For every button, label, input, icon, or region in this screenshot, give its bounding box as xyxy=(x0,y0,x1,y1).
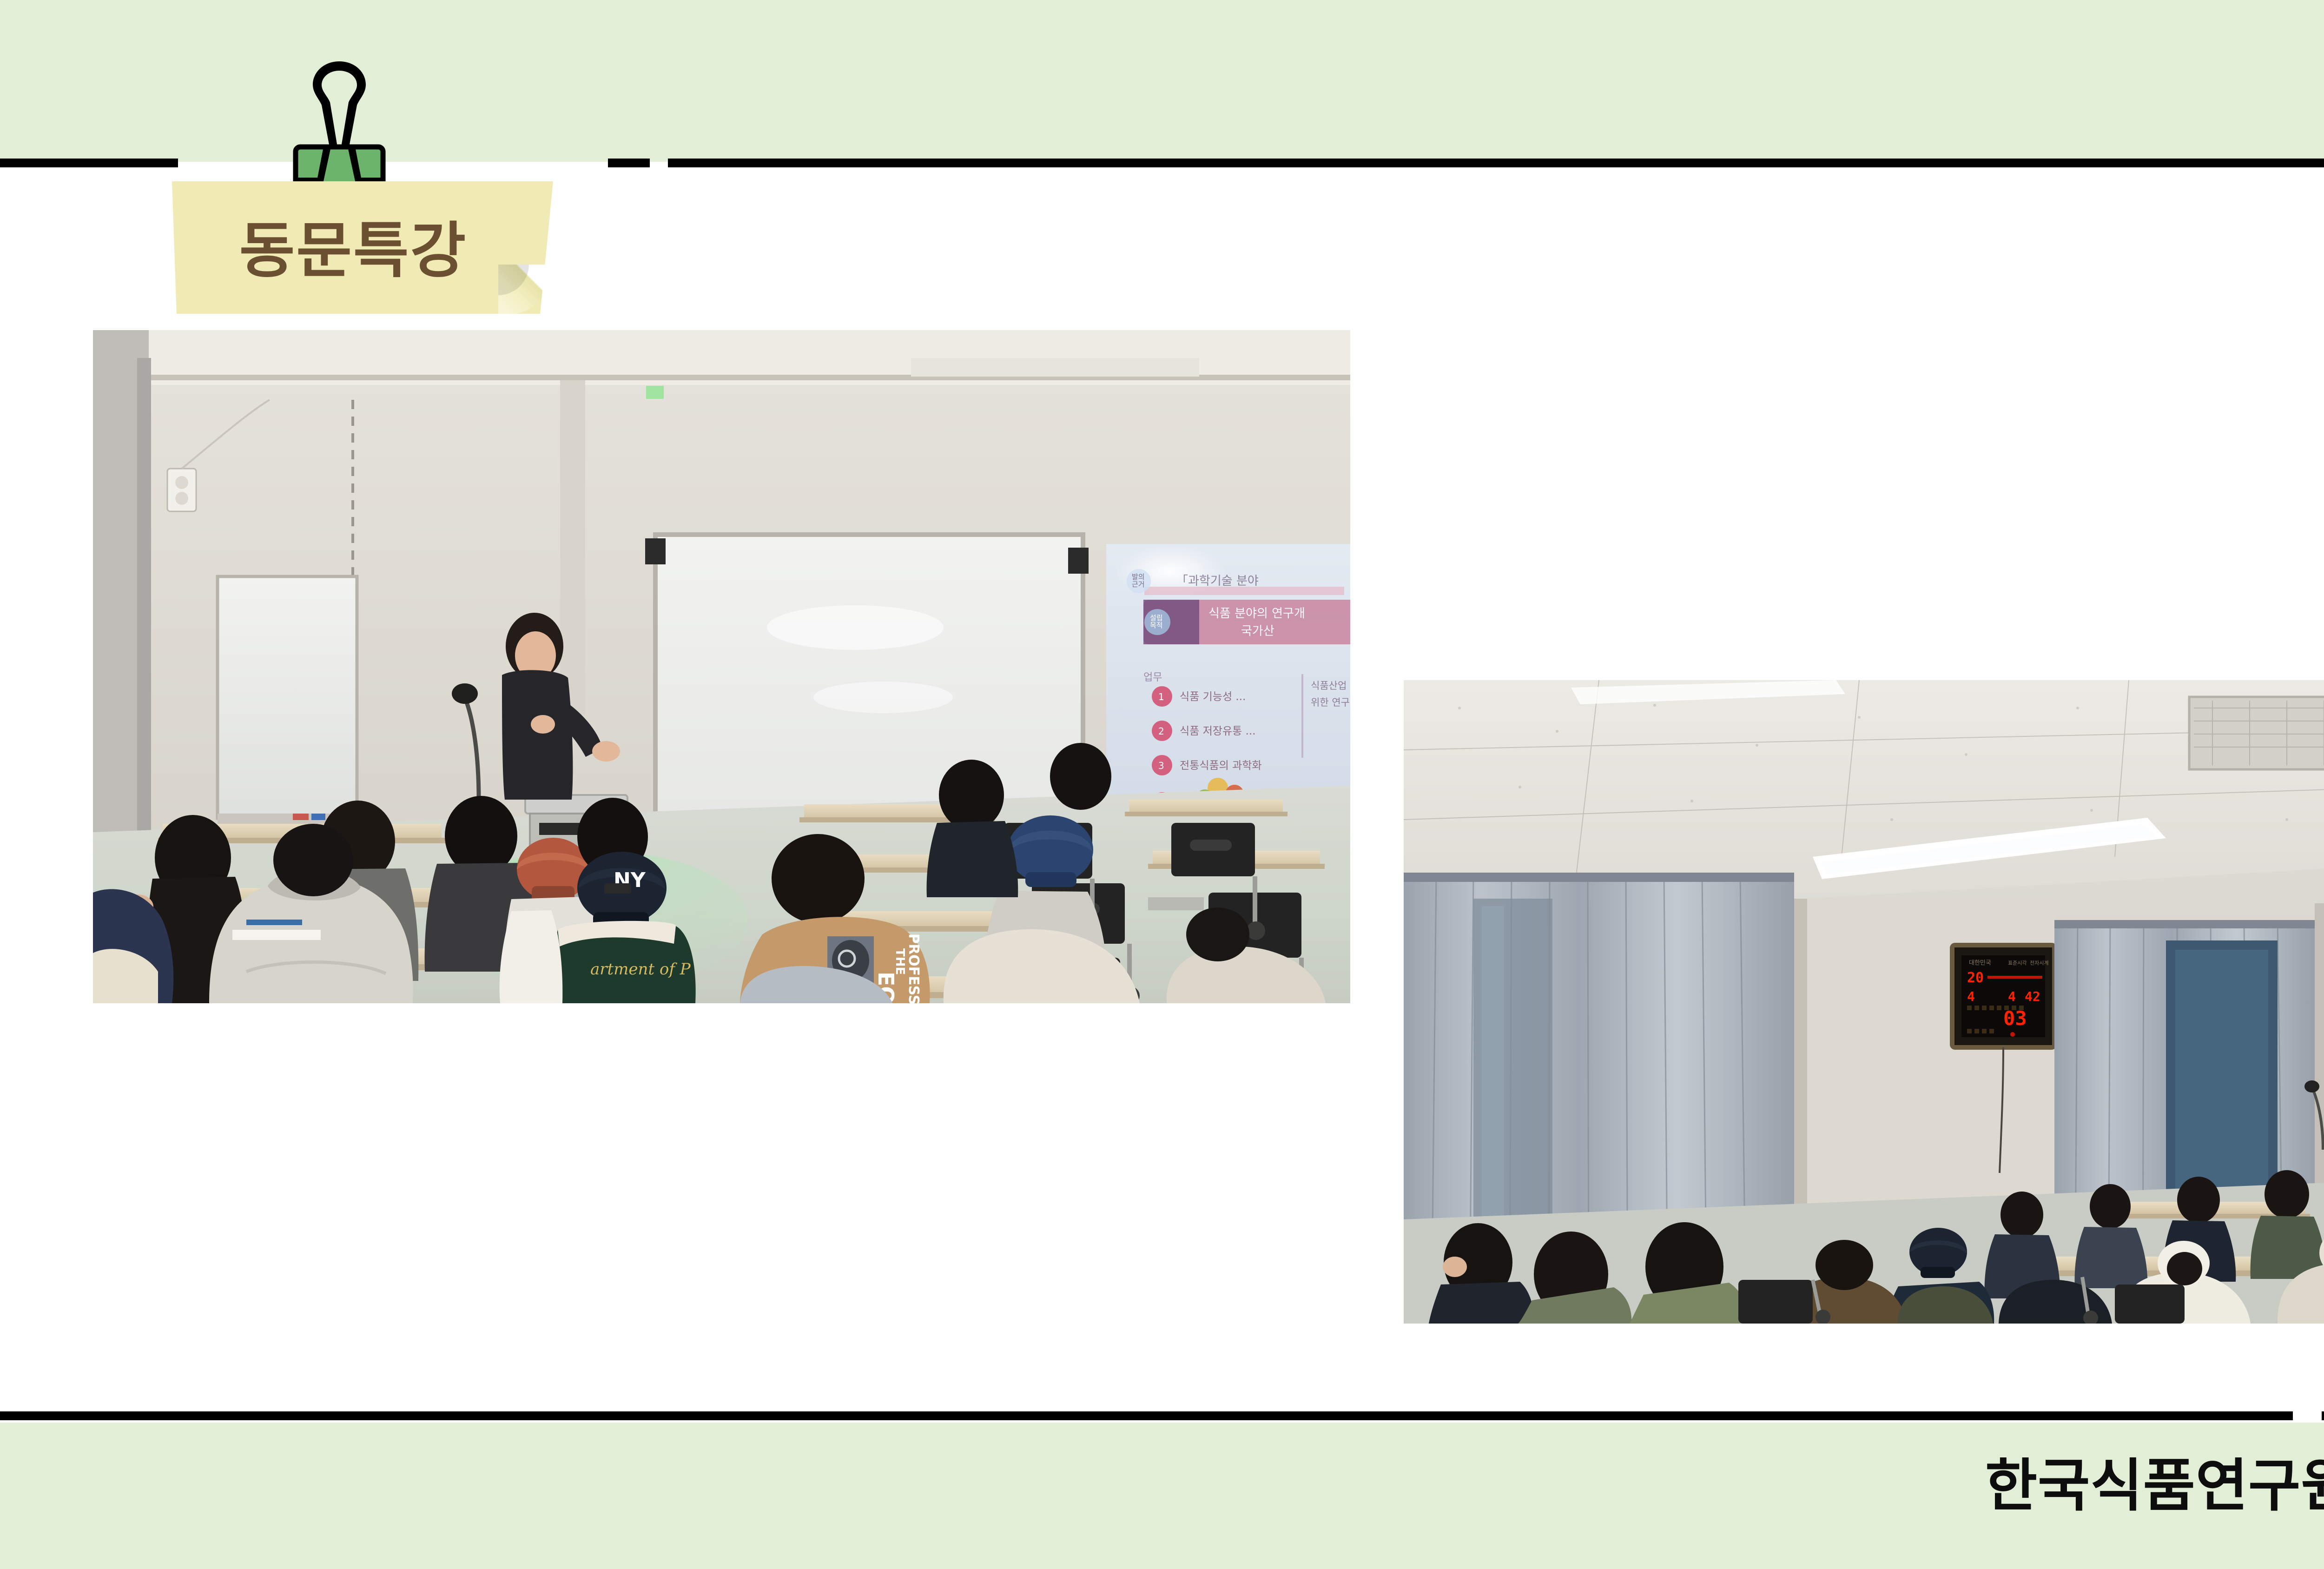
svg-text:전통식품의 과학화: 전통식품의 과학화 xyxy=(1180,760,1262,772)
svg-text:4: 4 xyxy=(2008,989,2016,1004)
top-rule-segment-right xyxy=(668,159,2324,167)
lecture-photo-right: 대한민국 표준시각 전자시계 20 4 4 42 03 xyxy=(1404,680,2324,1324)
lecture-photo-left: 「과학기술 분야 발의 근거 설립 목적 식품 분야의 연구개 국가산 업무 1… xyxy=(93,330,1350,1003)
slide-canvas: 동문특강 xyxy=(0,0,2324,1569)
svg-text:03: 03 xyxy=(2003,1007,2027,1030)
bottom-rule-segment-left xyxy=(0,1411,2293,1420)
svg-text:식품 저장유통 ...: 식품 저장유통 ... xyxy=(1180,725,1256,737)
bottom-rule-segment-mid xyxy=(2322,1411,2324,1420)
svg-text:PROFESSIONAL: PROFESSIONAL xyxy=(905,933,922,1003)
svg-text:artment of P: artment of P xyxy=(590,960,691,979)
svg-text:4: 4 xyxy=(1967,989,1975,1004)
svg-text:「과학기술 분야: 「과학기술 분야 xyxy=(1176,574,1259,588)
svg-text:식품 기능성 ...: 식품 기능성 ... xyxy=(1180,691,1246,703)
footer-caption: 한국식품연구원 최정희 박사님 xyxy=(0,1457,2324,1514)
sticky-note-curl xyxy=(498,265,554,316)
sticky-note: 동문특강 xyxy=(172,181,553,314)
svg-text:식품 분야의 연구개: 식품 분야의 연구개 xyxy=(1208,607,1305,621)
top-rule-segment-mid xyxy=(608,159,650,167)
svg-text:표준시각 전자시계: 표준시각 전자시계 xyxy=(2008,960,2049,966)
svg-text:THE: THE xyxy=(893,948,907,975)
top-rule-segment-left xyxy=(0,159,178,167)
svg-text:대한민국: 대한민국 xyxy=(1969,960,1991,967)
svg-text:42: 42 xyxy=(2025,989,2040,1004)
svg-text:식품산업 진흥을: 식품산업 진흥을 xyxy=(1311,680,1350,691)
sticky-note-title: 동문특강 xyxy=(172,220,535,281)
binder-clip-left-icon xyxy=(279,56,400,191)
svg-text:20: 20 xyxy=(1967,970,1984,986)
svg-text:3: 3 xyxy=(1158,760,1164,771)
svg-text:국가산: 국가산 xyxy=(1241,624,1274,638)
svg-text:2: 2 xyxy=(1158,726,1164,737)
svg-text:위한 연구수행: 위한 연구수행 xyxy=(1311,697,1350,708)
